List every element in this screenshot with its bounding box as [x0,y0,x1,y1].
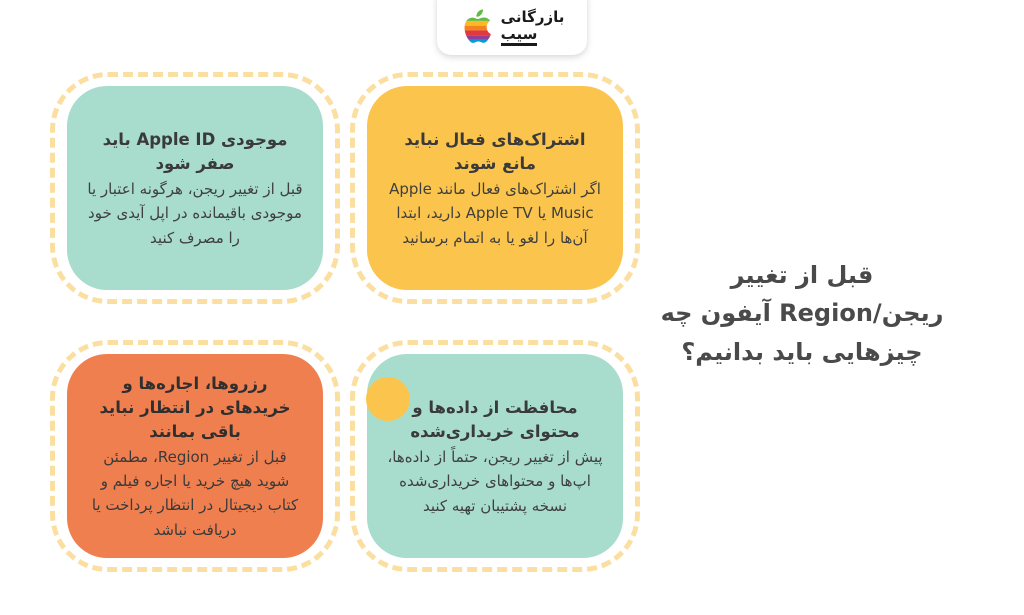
card-data-protection[interactable]: محافظت از داده‌ها و محتوای خریداری‌شده پ… [350,340,640,572]
page-title: قبل از تغییر ریجن/Region آیفون چه چیزهای… [642,256,962,371]
card-apple-id-balance[interactable]: موجودی Apple ID باید صفر شود قبل از تغیی… [50,72,340,304]
cards-grid: موجودی Apple ID باید صفر شود قبل از تغیی… [48,72,648,584]
card-body: اگر اشتراک‌های فعال مانند Apple Music یا… [387,177,603,250]
card-body: قبل از تغییر ریجن، هرگونه اعتبار یا موجو… [87,177,303,250]
card-surface: رزروها، اجاره‌ها و خریدهای در انتظار نبا… [67,354,323,558]
center-dot [366,377,410,421]
page-title-line3: چیزهایی باید بدانیم؟ [642,333,962,371]
card-pending-orders[interactable]: رزروها، اجاره‌ها و خریدهای در انتظار نبا… [50,340,340,572]
card-body: قبل از تغییر Region، مطمئن شوید هیچ خرید… [87,445,303,542]
card-title: محافظت از داده‌ها و محتوای خریداری‌شده [387,396,603,444]
card-surface: اشتراک‌های فعال نباید مانع شوند اگر اشتر… [367,86,623,290]
card-title: اشتراک‌های فعال نباید مانع شوند [387,128,603,176]
brand-wordmark-line1: بازرگانی [501,10,565,25]
page-title-line1: قبل از تغییر [642,256,962,294]
card-surface: موجودی Apple ID باید صفر شود قبل از تغیی… [67,86,323,290]
brand-wordmark-line2: سیب [501,27,538,46]
card-active-subscriptions[interactable]: اشتراک‌های فعال نباید مانع شوند اگر اشتر… [350,72,640,304]
card-title: موجودی Apple ID باید صفر شود [87,128,303,176]
card-body: پیش از تغییر ریجن، حتماً از داده‌ها، اپ‌… [387,445,603,518]
brand-logo-panel: بازرگانی سیب [437,0,587,55]
brand-wordmark: بازرگانی سیب [501,10,565,46]
card-title: رزروها، اجاره‌ها و خریدهای در انتظار نبا… [87,372,303,444]
apple-rainbow-icon [460,6,494,46]
page-title-line2: ریجن/Region آیفون چه [642,294,962,332]
